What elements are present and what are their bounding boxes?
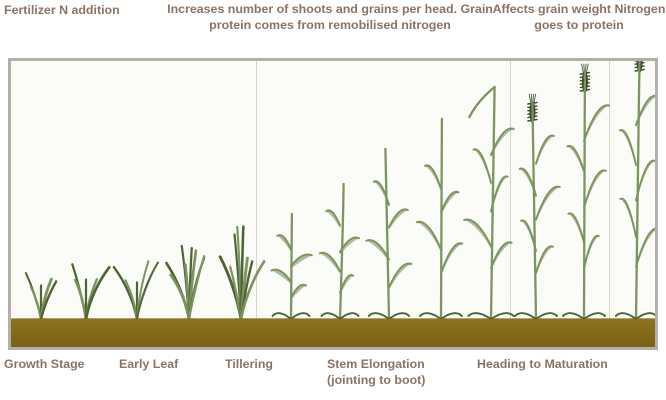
annotation-grain-weight: Affects grain weight Nitrogen goes to pr… <box>492 2 666 33</box>
wheat-plant <box>559 71 609 341</box>
plant-shoots <box>366 149 411 319</box>
growth-stage-illustration-frame <box>8 58 658 350</box>
stage-label-heading-to-maturation: Heading to Maturation <box>477 357 608 373</box>
plant-shoots <box>320 184 359 319</box>
plant-shoots <box>114 261 158 319</box>
plant-shoots <box>616 58 658 319</box>
plant-shoots <box>26 273 56 319</box>
wheat-plant <box>464 87 518 341</box>
soil-band <box>11 319 655 347</box>
plant-shoots <box>220 227 264 319</box>
annotation-fertilizer-n-addition: Fertilizer N addition <box>4 3 120 19</box>
plant-shoots <box>272 214 312 319</box>
annotation-shoots-and-grains: Increases number of shoots and grains pe… <box>162 2 498 33</box>
plant-shoots <box>72 264 109 319</box>
plant-shoots <box>563 71 609 319</box>
wheat-plant <box>511 101 561 341</box>
section-divider-heading-inner <box>609 61 610 347</box>
plant-shoots <box>166 246 204 319</box>
stage-label-early-leaf: Early Leaf <box>119 357 178 373</box>
plant-shoots <box>515 101 560 319</box>
wheat-plant <box>365 149 413 341</box>
plant-shoots <box>464 87 513 319</box>
top-annotation-band: Fertilizer N addition Increases number o… <box>0 0 666 56</box>
stage-label-band: Growth Stage Early Leaf Tillering Stem E… <box>0 352 666 400</box>
stage-label-tillering: Tillering <box>225 357 273 373</box>
wheat-plant <box>416 119 466 341</box>
stage-label-growth-stage: Growth Stage <box>4 357 85 373</box>
wheat-plant <box>612 58 658 341</box>
wheat-growth-field <box>11 61 655 347</box>
stage-label-stem-elongation: Stem Elongation (jointing to boot) <box>327 357 425 388</box>
plant-shoots <box>417 119 462 319</box>
